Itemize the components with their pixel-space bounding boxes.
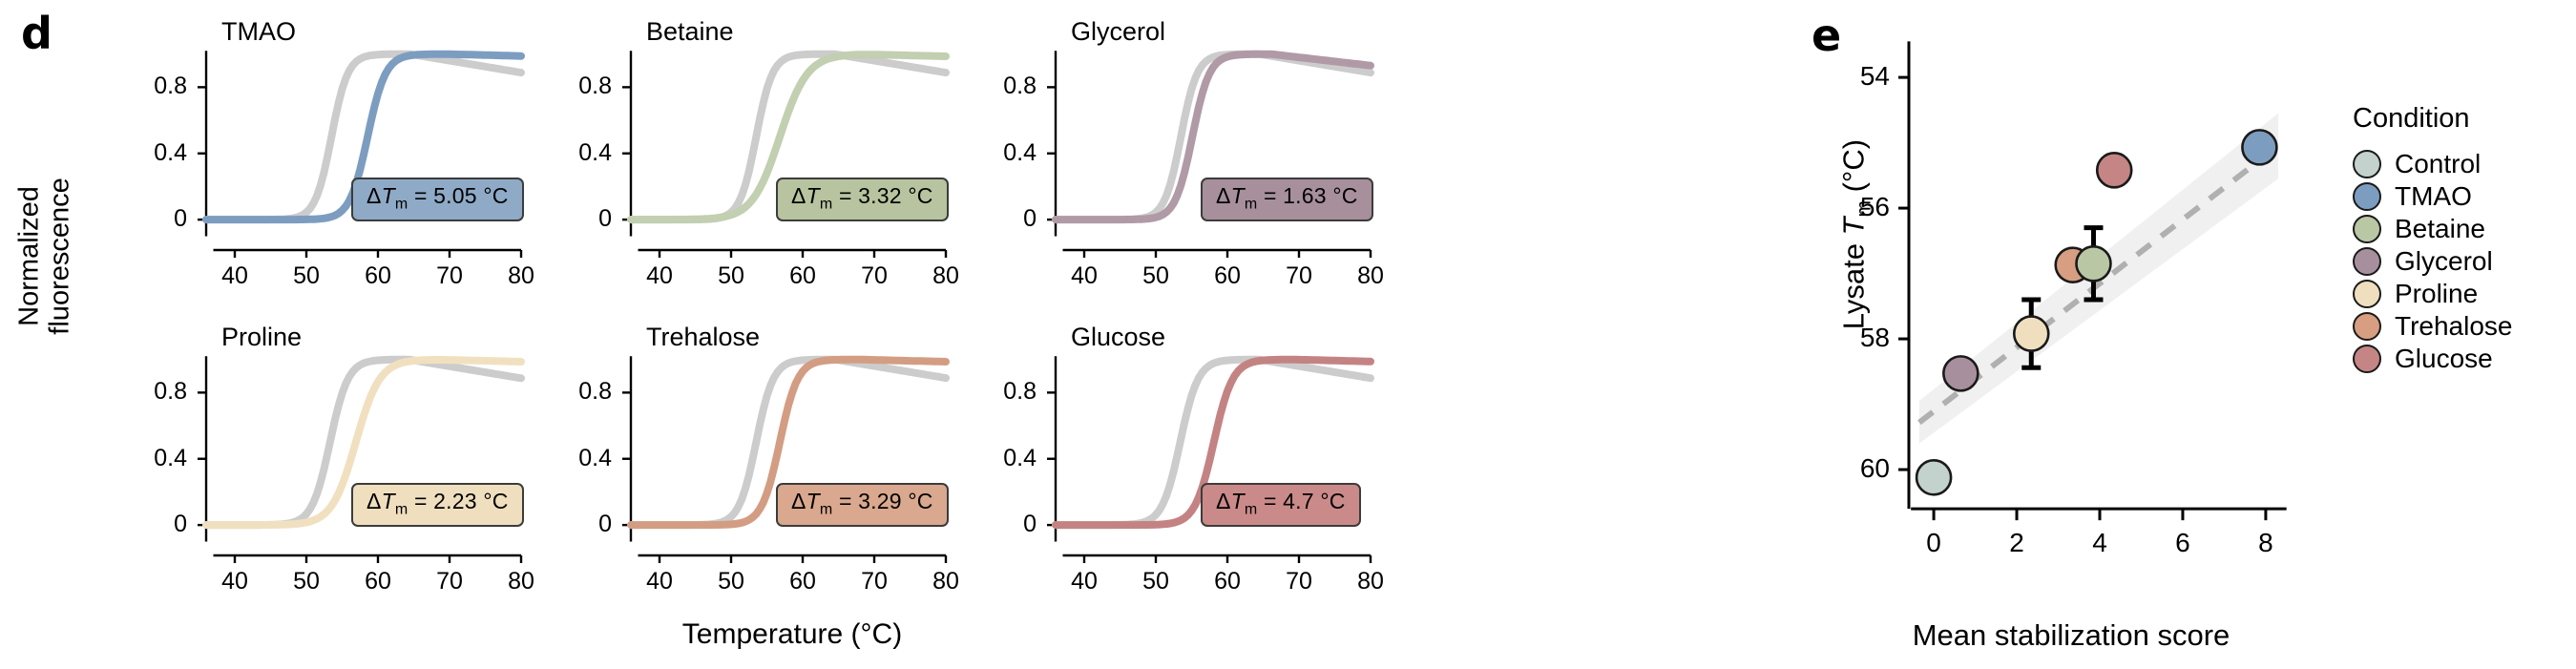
delta-tm-annotation: ΔTm = 1.63 °C <box>1201 178 1373 221</box>
panel-e-y-tick-label: 58 <box>1833 324 1890 351</box>
legend-item-label: Proline <box>2395 281 2478 307</box>
legend-items: ControlTMAOBetaineGlycerolProlineTrehalo… <box>2353 148 2512 375</box>
x-tick-label: 50 <box>281 264 332 288</box>
x-tick-label: 80 <box>920 264 972 288</box>
x-tick-label: 60 <box>1202 264 1253 288</box>
panel-e-x-tick-label: 2 <box>1998 530 2036 556</box>
legend-item-glucose[interactable]: Glucose <box>2353 343 2512 375</box>
scatter-point-proline[interactable] <box>2014 317 2048 351</box>
y-tick-label: 0 <box>126 207 187 231</box>
italic-T: T <box>382 489 395 513</box>
subplot-glucose: Glucose0.80.404050607080ΔTm = 4.7 °C <box>974 315 1393 563</box>
panel-d-x-axis-label: Temperature (°C) <box>534 618 1050 651</box>
panel-e: e Lysate Tm (°C) Mean stabilization scor… <box>1794 0 2576 669</box>
y-tick-label: 0.8 <box>551 380 612 404</box>
x-tick-label: 50 <box>705 264 757 288</box>
subplot-title: Trehalose <box>646 323 760 352</box>
legend-swatch-circle-icon <box>2353 345 2381 373</box>
delta-symbol: Δ <box>367 183 382 208</box>
delta-tm-annotation: ΔTm = 2.23 °C <box>351 483 524 527</box>
subplot-title: Proline <box>221 323 302 352</box>
panel-d-y-axis-label: Normalized fluorescence <box>14 98 76 413</box>
x-tick-label: 50 <box>1130 264 1182 288</box>
scatter-point-control[interactable] <box>1916 460 1951 494</box>
panel-e-x-tick-label: 0 <box>1915 530 1953 556</box>
x-tick-label: 80 <box>1345 570 1396 594</box>
x-tick-label: 60 <box>777 264 828 288</box>
subplot-title: TMAO <box>221 17 296 47</box>
scatter-point-glycerol[interactable] <box>1943 356 1978 390</box>
panel-e-y-tick-label: 54 <box>1833 63 1890 90</box>
x-tick-label: 60 <box>777 570 828 594</box>
y-tick-label: 0.8 <box>126 380 187 404</box>
delta-symbol: Δ <box>1216 489 1231 513</box>
subplot-title: Glucose <box>1071 323 1165 352</box>
legend-swatch-circle-icon <box>2353 182 2381 211</box>
subplot-glycerol: Glycerol0.80.404050607080ΔTm = 1.63 °C <box>974 10 1393 258</box>
delta-symbol: Δ <box>791 489 806 513</box>
x-tick-label: 70 <box>848 570 900 594</box>
subscript-m: m <box>820 502 833 518</box>
delta-tm-value: = 3.32 °C <box>839 183 933 208</box>
legend-item-control[interactable]: Control <box>2353 148 2512 180</box>
x-tick-label: 80 <box>495 570 547 594</box>
x-tick-label: 70 <box>848 264 900 288</box>
scatter-point-tmao[interactable] <box>2242 130 2276 164</box>
legend-item-betaine[interactable]: Betaine <box>2353 213 2512 245</box>
legend-swatch-circle-icon <box>2353 312 2381 341</box>
legend-item-label: Glycerol <box>2395 248 2493 275</box>
delta-tm-annotation: ΔTm = 3.29 °C <box>776 483 949 527</box>
delta-symbol: Δ <box>367 489 382 513</box>
scatter-point-glucose[interactable] <box>2097 153 2131 187</box>
delta-tm-value: = 5.05 °C <box>414 183 509 208</box>
panel-d-letter: d <box>21 11 52 55</box>
subscript-m: m <box>1245 197 1258 213</box>
legend-swatch-circle-icon <box>2353 280 2381 308</box>
y-tick-label: 0.4 <box>126 141 187 165</box>
x-tick-label: 70 <box>1273 570 1325 594</box>
legend-item-label: Betaine <box>2395 216 2485 242</box>
delta-tm-value: = 1.63 °C <box>1264 183 1358 208</box>
subscript-m: m <box>395 197 408 213</box>
subscript-m: m <box>395 502 408 518</box>
italic-T: T <box>1231 489 1245 513</box>
x-tick-label: 40 <box>209 570 261 594</box>
figure-root: d Normalized fluorescence Temperature (°… <box>0 0 2576 669</box>
x-tick-label: 80 <box>920 570 972 594</box>
delta-tm-value: = 2.23 °C <box>414 489 509 513</box>
panel-e-x-tick-label: 8 <box>2247 530 2285 556</box>
legend-swatch-circle-icon <box>2353 247 2381 276</box>
panel-e-y-tick-label: 56 <box>1833 194 1890 220</box>
delta-tm-value: = 4.7 °C <box>1264 489 1346 513</box>
y-tick-label: 0.4 <box>975 447 1037 470</box>
y-tick-label: 0 <box>551 512 612 536</box>
x-tick-label: 40 <box>209 264 261 288</box>
subplot-trehalose: Trehalose0.80.404050607080ΔTm = 3.29 °C <box>549 315 969 563</box>
panel-e-scatter-plot: 6058565402468 <box>1794 0 2367 630</box>
x-tick-label: 40 <box>1058 570 1110 594</box>
x-tick-label: 40 <box>1058 264 1110 288</box>
legend-item-glycerol[interactable]: Glycerol <box>2353 245 2512 278</box>
italic-T: T <box>806 183 820 208</box>
delta-symbol: Δ <box>791 183 806 208</box>
panel-e-y-tick-label: 60 <box>1833 455 1890 482</box>
x-tick-label: 60 <box>352 264 404 288</box>
legend-swatch-circle-icon <box>2353 215 2381 243</box>
panel-d: d Normalized fluorescence Temperature (°… <box>0 0 1813 669</box>
y-tick-label: 0 <box>126 512 187 536</box>
delta-tm-annotation: ΔTm = 3.32 °C <box>776 178 949 221</box>
legend-item-label: Control <box>2395 151 2481 178</box>
subplot-tmao: TMAO0.80.404050607080ΔTm = 5.05 °C <box>124 10 544 258</box>
y-tick-label: 0.8 <box>975 74 1037 98</box>
y-tick-label: 0 <box>975 512 1037 536</box>
legend-item-tmao[interactable]: TMAO <box>2353 180 2512 213</box>
legend-item-label: Glucose <box>2395 345 2493 372</box>
italic-T: T <box>1231 183 1245 208</box>
y-tick-label: 0.8 <box>551 74 612 98</box>
italic-T: T <box>382 183 395 208</box>
x-tick-label: 50 <box>281 570 332 594</box>
y-tick-label: 0 <box>551 207 612 231</box>
subplot-betaine: Betaine0.80.404050607080ΔTm = 3.32 °C <box>549 10 969 258</box>
legend-item-proline[interactable]: Proline <box>2353 278 2512 310</box>
delta-symbol: Δ <box>1216 183 1231 208</box>
subplot-title: Betaine <box>646 17 734 47</box>
x-tick-label: 40 <box>634 570 685 594</box>
y-tick-label: 0.4 <box>126 447 187 470</box>
y-tick-label: 0.4 <box>551 447 612 470</box>
x-tick-label: 50 <box>705 570 757 594</box>
x-tick-label: 60 <box>352 570 404 594</box>
y-tick-label: 0 <box>975 207 1037 231</box>
y-tick-label: 0.8 <box>975 380 1037 404</box>
x-tick-label: 40 <box>634 264 685 288</box>
delta-tm-value: = 3.29 °C <box>839 489 933 513</box>
y-tick-label: 0.4 <box>551 141 612 165</box>
x-tick-label: 70 <box>424 264 475 288</box>
legend-item-label: TMAO <box>2395 183 2472 210</box>
subplot-proline: Proline0.80.404050607080ΔTm = 2.23 °C <box>124 315 544 563</box>
x-tick-label: 80 <box>1345 264 1396 288</box>
panel-e-legend: Condition ControlTMAOBetaineGlycerolProl… <box>2353 103 2512 375</box>
panel-e-x-tick-label: 6 <box>2164 530 2202 556</box>
legend-swatch-circle-icon <box>2353 150 2381 178</box>
x-tick-label: 50 <box>1130 570 1182 594</box>
scatter-point-betaine[interactable] <box>2076 246 2110 281</box>
panel-e-x-tick-label: 4 <box>2081 530 2119 556</box>
x-tick-label: 80 <box>495 264 547 288</box>
y-tick-label: 0.4 <box>975 141 1037 165</box>
delta-tm-annotation: ΔTm = 5.05 °C <box>351 178 524 221</box>
legend-item-trehalose[interactable]: Trehalose <box>2353 310 2512 343</box>
x-tick-label: 70 <box>1273 264 1325 288</box>
delta-tm-annotation: ΔTm = 4.7 °C <box>1201 483 1361 527</box>
x-tick-label: 70 <box>424 570 475 594</box>
x-tick-label: 60 <box>1202 570 1253 594</box>
legend-title: Condition <box>2353 103 2512 135</box>
y-tick-label: 0.8 <box>126 74 187 98</box>
subscript-m: m <box>820 197 833 213</box>
subplot-title: Glycerol <box>1071 17 1165 47</box>
subscript-m: m <box>1245 502 1258 518</box>
legend-item-label: Trehalose <box>2395 313 2512 340</box>
italic-T: T <box>806 489 820 513</box>
